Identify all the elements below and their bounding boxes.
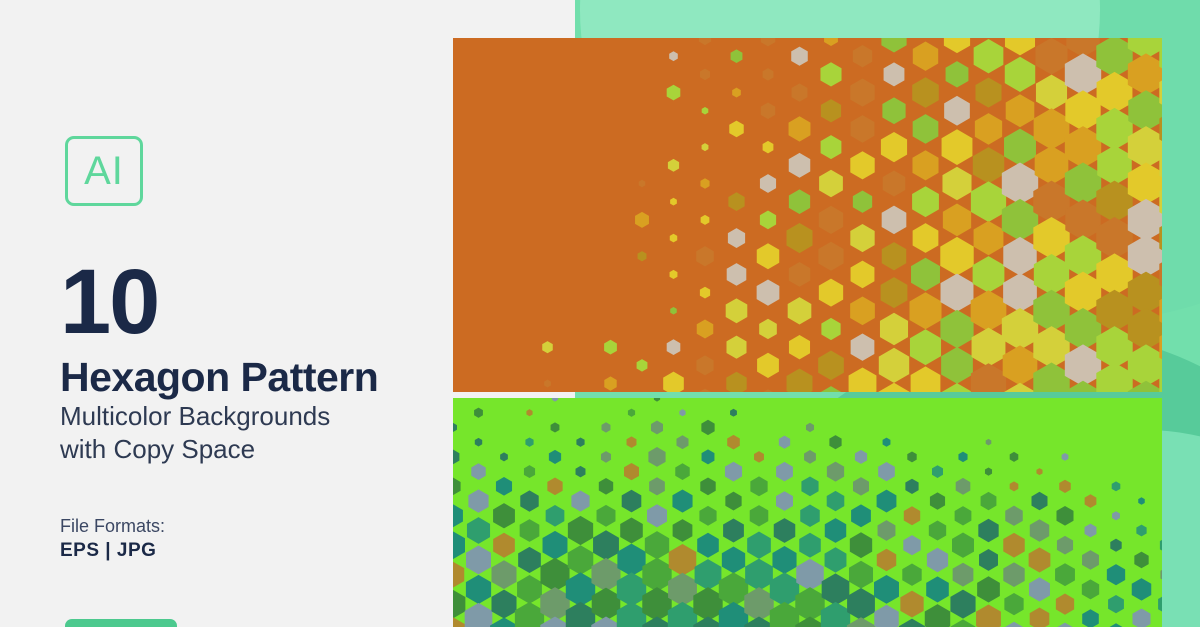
- pack-count: 10: [60, 256, 158, 348]
- hexagon-halftone-pattern: [453, 38, 1162, 392]
- ai-badge-label: AI: [84, 151, 124, 191]
- poster-canvas: AI 10 Hexagon Pattern Multicolor Backgro…: [0, 0, 1200, 627]
- ai-file-format-badge-icon: AI: [65, 136, 143, 206]
- cta-button[interactable]: [65, 619, 177, 627]
- file-formats-value: EPS | JPG: [60, 540, 156, 563]
- info-column: AI 10 Hexagon Pattern Multicolor Backgro…: [0, 0, 453, 627]
- page-title: Hexagon Pattern: [60, 356, 378, 399]
- orange-hexagon-preview: [453, 38, 1162, 392]
- page-subtitle-line-1: Multicolor Backgrounds: [60, 400, 440, 433]
- lime-hexagon-preview: [453, 398, 1162, 627]
- hexagon-halftone-pattern: [453, 398, 1162, 627]
- page-subtitle-line-2: with Copy Space: [60, 433, 440, 466]
- page-subtitle: Multicolor Backgrounds with Copy Space: [60, 400, 440, 467]
- file-formats-label: File Formats:: [60, 516, 165, 538]
